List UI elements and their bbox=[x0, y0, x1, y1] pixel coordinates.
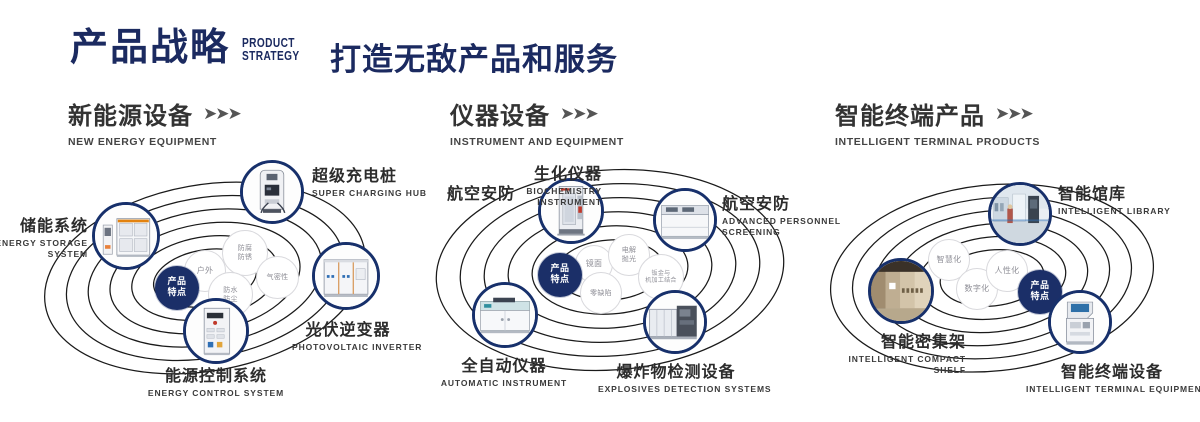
page-title-en-line2: STRATEGY bbox=[242, 49, 300, 63]
core-label-line2: 特点 bbox=[1030, 292, 1049, 302]
cluster-intelligent-terminal: 智慧化 数字化 人性化 产品 特点 bbox=[800, 150, 1200, 400]
chevron-right-icon: ➤➤➤ bbox=[560, 104, 597, 124]
feature-bubble-label: 钣金与 机加工结合 bbox=[645, 270, 677, 285]
energy-storage-cabinet-icon bbox=[95, 205, 157, 267]
feature-bubble-label: 气密性 bbox=[267, 273, 289, 282]
node-caption-en: BIOCHEMISTRY INSTRUMENT bbox=[442, 186, 602, 207]
feature-bubble-label: 人性化 bbox=[995, 266, 1020, 276]
section-header-instrument: 仪器设备 ➤➤➤ INSTRUMENT AND EQUIPMENT bbox=[450, 96, 624, 148]
core-label-line2: 特点 bbox=[167, 288, 186, 298]
node-bubble-energy-control-cabinet[interactable] bbox=[183, 298, 249, 364]
node-bubble-compact-shelf[interactable] bbox=[868, 258, 934, 324]
section-title-cn-text: 新能源设备 bbox=[68, 96, 193, 131]
feature-bubble: 零缺陷 bbox=[580, 272, 622, 314]
node-caption-compact-shelf: 智能密集架 INTELLIGENT COMPACT SHELF bbox=[814, 328, 966, 375]
core-bubble-label: 产品 特点 bbox=[1030, 281, 1049, 303]
section-header-intelligent-terminal: 智能终端产品 ➤➤➤ INTELLIGENT TERMINAL PRODUCTS bbox=[835, 96, 1040, 148]
page-title-en: PRODUCT STRATEGY bbox=[242, 36, 300, 63]
feature-bubble-label: 电解 抛光 bbox=[622, 246, 637, 264]
feature-bubble-label: 数字化 bbox=[965, 284, 990, 294]
core-label-line1: 产品 bbox=[167, 277, 186, 287]
core-label-line2: 特点 bbox=[550, 275, 569, 285]
feature-bubble: 气密性 bbox=[256, 256, 299, 299]
cluster-new-energy: 户外 防腐 防锈 防水 防尘 气密性 产品 特点 bbox=[0, 150, 410, 400]
node-caption-photovoltaic-inverter: 光伏逆变器 PHOTOVOLTAIC INVERTER bbox=[292, 316, 404, 353]
section-header-new-energy: 新能源设备 ➤➤➤ NEW ENERGY EQUIPMENT bbox=[68, 96, 240, 148]
node-bubble-energy-storage-cabinet[interactable] bbox=[92, 202, 160, 270]
section-title-cn: 仪器设备 ➤➤➤ bbox=[450, 96, 624, 131]
node-bubble-intelligent-terminal-kiosk[interactable] bbox=[1048, 290, 1112, 354]
page-title-cn: 产品战略 bbox=[70, 28, 230, 66]
intelligent-terminal-kiosk-icon bbox=[1051, 293, 1109, 351]
core-bubble-label: 产品 特点 bbox=[550, 264, 569, 286]
intelligent-library-icon bbox=[991, 185, 1049, 243]
section-title-en: INSTRUMENT AND EQUIPMENT bbox=[450, 136, 624, 148]
core-bubble-product-features: 产品 特点 bbox=[538, 253, 582, 297]
section-title-cn: 智能终端产品 ➤➤➤ bbox=[835, 96, 1040, 131]
feature-bubble-label: 智慧化 bbox=[937, 255, 962, 265]
node-caption-cn: 能源控制系统 bbox=[140, 362, 292, 386]
energy-control-cabinet-icon bbox=[186, 301, 246, 361]
node-caption-cn: 全自动仪器 bbox=[428, 352, 580, 376]
node-caption-cn: 储能系统 bbox=[0, 212, 88, 236]
photovoltaic-inverter-icon bbox=[315, 245, 377, 307]
node-caption-cn: 生化仪器 bbox=[442, 160, 602, 184]
chevron-right-icon: ➤➤➤ bbox=[995, 104, 1032, 124]
feature-bubble-label: 零缺陷 bbox=[590, 289, 612, 298]
node-caption-en: INTELLIGENT LIBRARY bbox=[1058, 206, 1198, 217]
section-title-cn-text: 智能终端产品 bbox=[835, 96, 985, 131]
cluster-instrument: 镜面 电解 抛光 零缺陷 钣金与 机加工结合 产品 特点 bbox=[400, 150, 820, 400]
section-title-cn: 新能源设备 ➤➤➤ bbox=[68, 96, 240, 131]
node-caption-cn: 光伏逆变器 bbox=[292, 316, 404, 340]
node-caption-cn: 爆炸物检测设备 bbox=[598, 358, 754, 382]
node-caption-en: EXPLOSIVES DETECTION SYSTEMS bbox=[598, 384, 754, 395]
node-caption-automatic-instrument: 全自动仪器 AUTOMATIC INSTRUMENT bbox=[428, 352, 580, 389]
node-caption-cn: 智能馆库 bbox=[1058, 180, 1198, 204]
super-charging-hub-icon bbox=[243, 163, 301, 221]
node-caption-cn: 智能密集架 bbox=[814, 328, 966, 352]
node-caption-en: INTELLIGENT TERMINAL EQUIPMENT bbox=[1026, 384, 1198, 395]
node-caption-intelligent-library: 智能馆库 INTELLIGENT LIBRARY bbox=[1058, 180, 1198, 217]
personnel-screening-machine-icon bbox=[656, 191, 714, 249]
section-title-en: NEW ENERGY EQUIPMENT bbox=[68, 136, 240, 148]
node-bubble-explosives-detector[interactable] bbox=[643, 290, 707, 354]
automatic-instrument-icon bbox=[475, 285, 535, 345]
compact-shelf-icon bbox=[871, 261, 931, 321]
node-caption-energy-storage: 储能系统 ENERGY STORAGE SYSTEM bbox=[0, 212, 88, 259]
explosives-detector-icon bbox=[646, 293, 704, 351]
page-title-en-line1: PRODUCT bbox=[242, 36, 300, 50]
node-caption-intelligent-terminal-equipment: 智能终端设备 INTELLIGENT TERMINAL EQUIPMENT bbox=[1026, 358, 1198, 395]
node-bubble-automatic-instrument[interactable] bbox=[472, 282, 538, 348]
node-caption-en: AUTOMATIC INSTRUMENT bbox=[428, 378, 580, 389]
node-caption-en: INTELLIGENT COMPACT SHELF bbox=[814, 354, 966, 375]
node-caption-biochemistry-instrument: 生化仪器 BIOCHEMISTRY INSTRUMENT bbox=[442, 160, 602, 207]
node-caption-en: ENERGY CONTROL SYSTEM bbox=[140, 388, 292, 399]
node-bubble-super-charging-hub[interactable] bbox=[240, 160, 304, 224]
node-caption-energy-control-system: 能源控制系统 ENERGY CONTROL SYSTEM bbox=[140, 362, 292, 399]
node-bubble-photovoltaic-inverter[interactable] bbox=[312, 242, 380, 310]
page-title: 产品战略 PRODUCT STRATEGY bbox=[70, 28, 316, 66]
feature-bubble-label: 防腐 防锈 bbox=[238, 244, 253, 262]
chevron-right-icon: ➤➤➤ bbox=[203, 104, 240, 124]
core-bubble-label: 产品 特点 bbox=[167, 277, 186, 299]
core-label-line1: 产品 bbox=[1030, 281, 1049, 291]
section-title-cn-text: 仪器设备 bbox=[450, 96, 550, 131]
node-bubble-intelligent-library[interactable] bbox=[988, 182, 1052, 246]
node-caption-en: PHOTOVOLTAIC INVERTER bbox=[292, 342, 404, 353]
node-bubble-personnel-screening-machine[interactable] bbox=[653, 188, 717, 252]
section-title-en: INTELLIGENT TERMINAL PRODUCTS bbox=[835, 136, 1040, 148]
feature-bubble-label: 户外 bbox=[197, 266, 214, 276]
core-label-line1: 产品 bbox=[550, 264, 569, 274]
page-slogan: 打造无敌产品和服务 bbox=[330, 34, 618, 79]
feature-bubble-label: 镜面 bbox=[586, 259, 603, 269]
node-caption-en: ENERGY STORAGE SYSTEM bbox=[0, 238, 88, 259]
node-caption-explosives-detection: 爆炸物检测设备 EXPLOSIVES DETECTION SYSTEMS bbox=[598, 358, 754, 395]
node-caption-cn: 智能终端设备 bbox=[1026, 358, 1198, 382]
product-strategy-infographic: 产品战略 PRODUCT STRATEGY 打造无敌产品和服务 新能源设备 ➤➤… bbox=[0, 0, 1200, 422]
